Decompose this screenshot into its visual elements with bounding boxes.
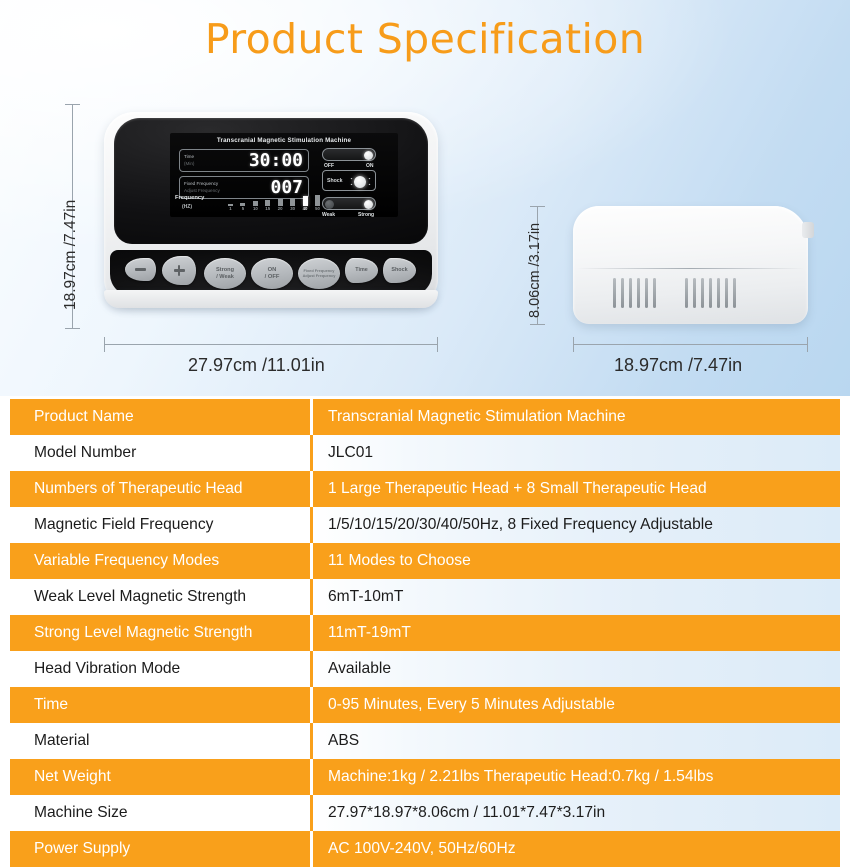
frequency-bar [315, 195, 320, 206]
spec-key: Product Name [10, 399, 310, 435]
table-row: Machine Size27.97*18.97*8.06cm / 11.01*7… [10, 795, 840, 831]
table-row: Variable Frequency Modes11 Modes to Choo… [10, 543, 840, 579]
head-vent-slot [709, 278, 712, 308]
lcd-frequency-scale: Frequency (HZ) 15101520304050 [175, 195, 320, 215]
table-row: MaterialABS [10, 723, 840, 759]
frequency-mode-button[interactable]: Fixed FrequencyAdjust Frequency [298, 258, 340, 289]
device-base [104, 290, 438, 308]
strong-weak-button-label: Strong/ Weak [216, 267, 234, 280]
head-width-dim-cap-right [807, 337, 808, 352]
spec-value: 11 Modes to Choose [310, 543, 840, 579]
frequency-scale-label: 20 [278, 206, 283, 214]
head-height-dim-cap-top [530, 206, 545, 207]
frequency-scale-label: 1 [228, 206, 233, 214]
spec-key: Model Number [10, 435, 310, 471]
frequency-scale-label: 15 [265, 206, 270, 214]
frequency-bar-meter [228, 195, 320, 206]
table-row: Strong Level Magnetic Strength11mT-19mT [10, 615, 840, 651]
head-vent-slot [725, 278, 728, 308]
frequency-scale-label: 40 [303, 206, 308, 214]
spec-key: Variable Frequency Modes [10, 543, 310, 579]
main-height-label: 18.97cm /7.47in [62, 200, 80, 310]
table-row: Net WeightMachine:1kg / 2.21lbs Therapeu… [10, 759, 840, 795]
plus-icon [178, 265, 181, 276]
spec-key: Power Supply [10, 831, 310, 867]
toggle-knob-icon [364, 200, 373, 209]
frequency-scale-label: 10 [253, 206, 258, 214]
on-off-button-label: ON/ OFF [265, 267, 280, 280]
frequency-bar [290, 198, 295, 207]
spec-value: AC 100V-240V, 50Hz/60Hz [310, 831, 840, 867]
toggle-knob-icon [364, 151, 373, 160]
main-width-label: 27.97cm /11.01in [188, 355, 325, 376]
table-row: Numbers of Therapeutic Head1 Large Thera… [10, 471, 840, 507]
lcd-strong-label: Strong [358, 212, 374, 218]
shock-button-label: Shock [391, 267, 407, 273]
lcd-off-label: OFF [324, 163, 334, 169]
spec-value: 1/5/10/15/20/30/40/50Hz, 8 Fixed Frequen… [310, 507, 840, 543]
head-vent-slot [733, 278, 736, 308]
main-width-dim-line [104, 344, 438, 345]
main-width-dim-cap-left [104, 337, 105, 352]
spec-key: Time [10, 687, 310, 723]
spec-value: 11mT-19mT [310, 615, 840, 651]
frequency-unit: (HZ) [182, 204, 192, 210]
minus-button[interactable] [125, 258, 156, 281]
spec-value: 0-95 Minutes, Every 5 Minutes Adjustable [310, 687, 840, 723]
head-seam-line [577, 268, 804, 269]
spec-value: ABS [310, 723, 840, 759]
spec-value: Machine:1kg / 2.21lbs Therapeutic Head:0… [310, 759, 840, 795]
head-vent-slot [621, 278, 624, 308]
spec-value: Transcranial Magnetic Stimulation Machin… [310, 399, 840, 435]
frequency-scale-label: 50 [315, 206, 320, 214]
spec-value: Available [310, 651, 840, 687]
spec-value: JLC01 [310, 435, 840, 471]
frequency-scale-label: 30 [290, 206, 295, 214]
head-vent-slot [613, 278, 616, 308]
head-vent-slot [685, 278, 688, 308]
lcd-shock-label: Shock [323, 178, 343, 184]
head-vent-slot [693, 278, 696, 308]
lcd-time-label: Time (Min) [180, 154, 224, 166]
lcd-shock-indicator: Shock [322, 170, 376, 191]
table-row: Model NumberJLC01 [10, 435, 840, 471]
therapeutic-head-image [573, 206, 808, 324]
head-height-dim-cap-bottom [530, 324, 545, 325]
main-height-dim-cap-top [65, 104, 80, 105]
frequency-caption: Frequency [175, 195, 204, 201]
strong-weak-button[interactable]: Strong/ Weak [204, 258, 246, 289]
spec-value: 6mT-10mT [310, 579, 840, 615]
time-button-label: Time [355, 267, 367, 273]
frequency-mode-button-label: Fixed FrequencyAdjust Frequency [303, 269, 336, 278]
shock-button[interactable]: Shock [383, 258, 416, 283]
table-row: Weak Level Magnetic Strength6mT-10mT [10, 579, 840, 615]
head-vent-slot [653, 278, 656, 308]
head-vent-slot [701, 278, 704, 308]
main-height-dim-cap-bottom [65, 328, 80, 329]
lcd-weak-label: Weak [322, 212, 335, 218]
head-connector [802, 222, 814, 238]
spec-value: 27.97*18.97*8.06cm / 11.01*7.47*3.17in [310, 795, 840, 831]
head-body [573, 206, 808, 324]
spec-key: Strong Level Magnetic Strength [10, 615, 310, 651]
page-title: Product Specification [0, 19, 850, 60]
toggle-knob-icon [325, 200, 334, 209]
head-height-label: 8.06cm /3.17in [527, 223, 543, 318]
table-row: Magnetic Field Frequency1/5/10/15/20/30/… [10, 507, 840, 543]
lcd-level-toggle [322, 197, 376, 210]
lcd-time-field: Time (Min) 30:00 [179, 149, 309, 172]
lcd-frequency-label: Fixed Frequency Adjust Frequency [180, 181, 224, 193]
head-width-dim-cap-left [573, 337, 574, 352]
head-vent-slot [629, 278, 632, 308]
head-width-label: 18.97cm /7.47in [614, 355, 742, 376]
shock-dot-icon [354, 176, 366, 188]
spec-key: Weak Level Magnetic Strength [10, 579, 310, 615]
lcd-time-value: 30:00 [224, 150, 308, 171]
head-vent-slot [717, 278, 720, 308]
shock-wave-icon [368, 178, 371, 185]
spec-key: Material [10, 723, 310, 759]
table-row: Product NameTranscranial Magnetic Stimul… [10, 399, 840, 435]
frequency-scale-labels: 15101520304050 [228, 206, 320, 214]
lcd-title: Transcranial Magnetic Stimulation Machin… [170, 137, 398, 144]
head-width-dim-line [573, 344, 808, 345]
frequency-bar [278, 199, 283, 206]
on-off-button[interactable]: ON/ OFF [251, 258, 293, 289]
shock-wave-icon [350, 178, 353, 185]
spec-key: Machine Size [10, 795, 310, 831]
main-width-dim-cap-right [437, 337, 438, 352]
product-specification-page: Product Specification 18.97cm /7.47in 27… [0, 0, 850, 850]
plus-button[interactable] [162, 256, 196, 285]
spec-key: Net Weight [10, 759, 310, 795]
spec-key: Numbers of Therapeutic Head [10, 471, 310, 507]
main-device-image: Transcranial Magnetic Stimulation Machin… [104, 112, 438, 312]
spec-key: Head Vibration Mode [10, 651, 310, 687]
specification-table: Product NameTranscranial Magnetic Stimul… [10, 399, 840, 867]
hero-section: Product Specification 18.97cm /7.47in 27… [0, 0, 850, 396]
head-vent-slot [637, 278, 640, 308]
time-button[interactable]: Time [345, 258, 378, 283]
frequency-bar [303, 196, 308, 206]
head-vent-slot [645, 278, 648, 308]
lcd-power-toggle [322, 148, 376, 161]
lcd-on-label: ON [366, 163, 374, 169]
minus-icon [135, 268, 146, 271]
table-row: Head Vibration ModeAvailable [10, 651, 840, 687]
table-row: Time0-95 Minutes, Every 5 Minutes Adjust… [10, 687, 840, 723]
spec-value: 1 Large Therapeutic Head + 8 Small Thera… [310, 471, 840, 507]
frequency-scale-label: 5 [240, 206, 245, 214]
spec-key: Magnetic Field Frequency [10, 507, 310, 543]
device-lcd-screen: Transcranial Magnetic Stimulation Machin… [170, 133, 398, 217]
table-row: Power SupplyAC 100V-240V, 50Hz/60Hz [10, 831, 840, 867]
